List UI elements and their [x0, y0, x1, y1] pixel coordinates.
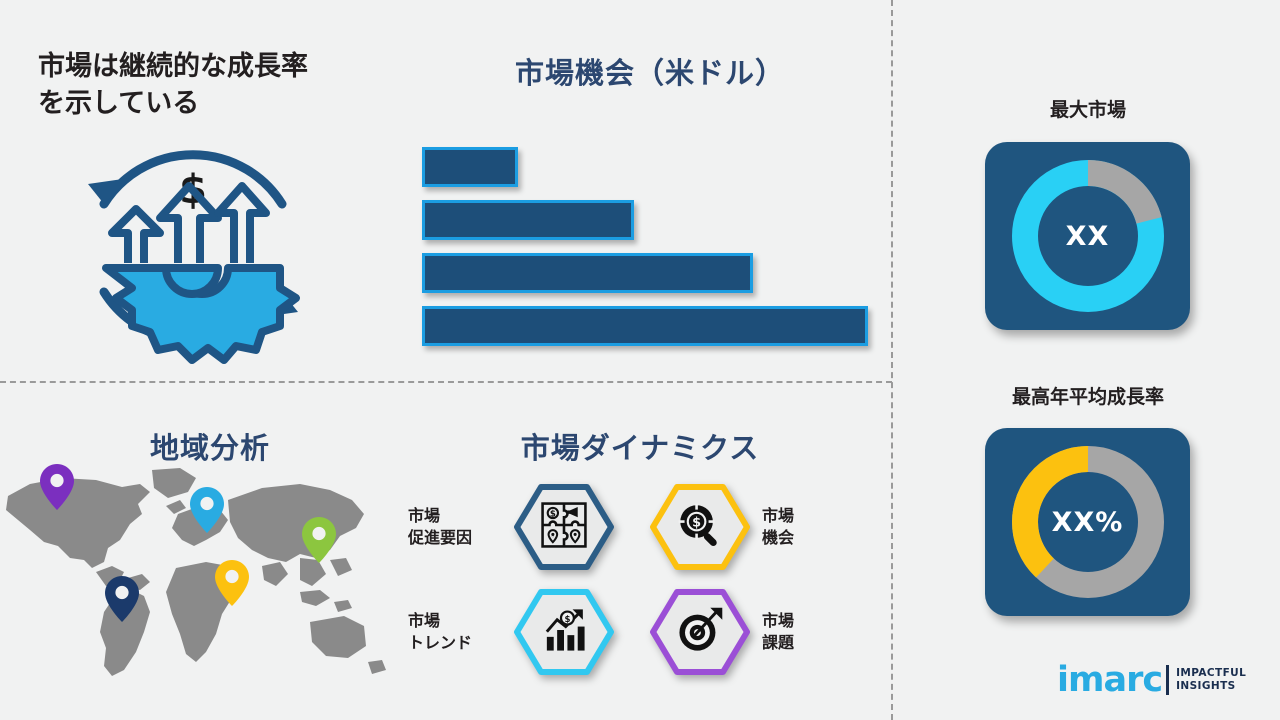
- horizontal-divider: [0, 381, 892, 383]
- slide-canvas: 市場は継続的な成長率 を示している $ 市場機会（米ドル） 地域分析: [0, 0, 1280, 720]
- dynamics-hexagon[interactable]: [650, 589, 750, 675]
- region-title: 地域分析: [150, 425, 270, 467]
- dollar-magnifier-icon: $: [676, 501, 724, 553]
- logo-tagline: IMPACTFUL INSIGHTS: [1176, 667, 1246, 693]
- logo-wordmark: imarc: [1057, 663, 1162, 698]
- pin-south-america: [105, 576, 139, 622]
- pin-north-america: [40, 464, 74, 510]
- dynamics-item[interactable]: 市場 課題: [650, 589, 856, 675]
- bar-1: [422, 147, 518, 187]
- opportunity-title: 市場機会（米ドル）: [420, 50, 880, 92]
- dynamics-item-label: 市場 トレンド: [408, 610, 502, 653]
- opportunity-bar-chart: [422, 147, 882, 347]
- world-map: [0, 462, 400, 697]
- pin-east-asia: [302, 517, 336, 563]
- kpi-caption: 最高年平均成長率: [958, 382, 1218, 409]
- growth-title: 市場は継続的な成長率 を示している: [38, 48, 388, 123]
- bar-3: [422, 253, 753, 293]
- dynamics-item[interactable]: $市場 機会: [650, 484, 856, 570]
- dynamics-hexagon[interactable]: $: [650, 484, 750, 570]
- dynamics-item[interactable]: 市場 トレンド$: [408, 589, 614, 675]
- vertical-divider: [891, 0, 893, 720]
- dynamics-item[interactable]: 市場 促進要因$: [408, 484, 614, 570]
- bar-chart-growth-icon: $: [540, 606, 588, 658]
- svg-text:$: $: [550, 509, 556, 519]
- dynamics-item-label: 市場 促進要因: [408, 505, 502, 548]
- kpi-card: XX%: [985, 428, 1190, 616]
- kpi-value: XX: [985, 221, 1190, 252]
- target-arrow-icon: [676, 606, 724, 658]
- growth-cycle-gear-icon: $: [68, 128, 318, 368]
- dynamics-item-label: 市場 機会: [762, 505, 856, 548]
- bar-4: [422, 306, 868, 346]
- dynamics-title: 市場ダイナミクス: [420, 425, 860, 467]
- logo-tagline-line2: INSIGHTS: [1176, 680, 1246, 693]
- kpi-card: XX: [985, 142, 1190, 330]
- dynamics-item-label: 市場 課題: [762, 610, 856, 653]
- logo-tagline-line1: IMPACTFUL: [1176, 667, 1246, 680]
- svg-text:$: $: [692, 516, 701, 531]
- pin-europe: [190, 487, 224, 533]
- svg-text:$: $: [564, 615, 570, 625]
- bar-2: [422, 200, 634, 240]
- dynamics-hexagon[interactable]: $: [514, 484, 614, 570]
- kpi-caption: 最大市場: [958, 95, 1218, 122]
- kpi-value: XX%: [985, 507, 1190, 538]
- dynamics-hexagon[interactable]: $: [514, 589, 614, 675]
- puzzle-pieces-icon: $: [540, 501, 588, 553]
- imarc-logo: imarc IMPACTFUL INSIGHTS: [1057, 657, 1257, 703]
- pin-middle-east: [215, 560, 249, 606]
- logo-divider: [1166, 665, 1169, 695]
